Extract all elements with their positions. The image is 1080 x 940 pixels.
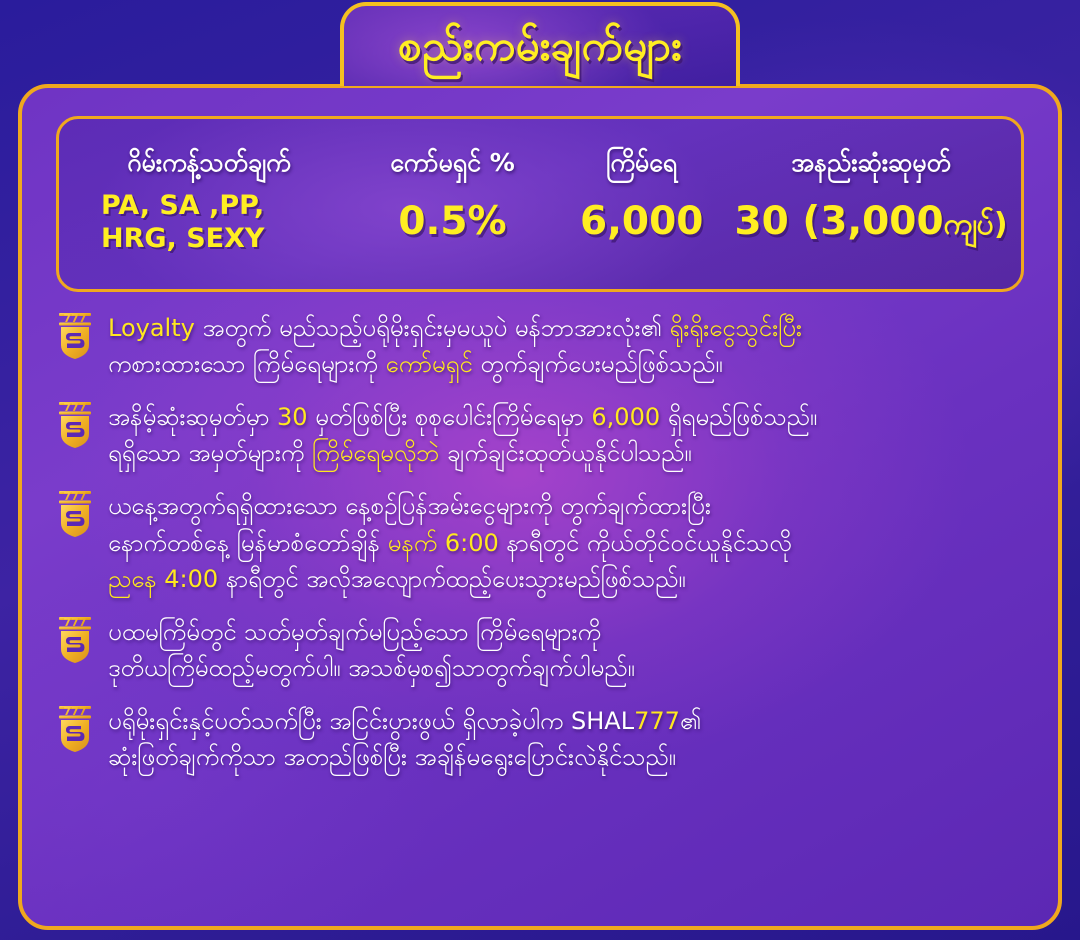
body-text: ရှိရမည်ဖြစ်သည်။	[668, 403, 817, 431]
list-item-line: နောက်တစ်နေ့ မြန်မာစံတော်ချိန် မနက် 6:00 …	[108, 527, 792, 560]
list-item-line: ကစားထားသော ကြိမ်ရေများကို ကော်မရှင် တွက်…	[108, 348, 802, 381]
body-text: ချက်ချင်းထုတ်ယူနိုင်ပါသည်။	[447, 439, 692, 467]
shield-777-icon: 777	[56, 490, 94, 538]
table-cell-min-points: 30 (3,000ကျပ်)	[729, 202, 1013, 243]
body-text: ကစားထားသော ကြိမ်ရေများကို	[108, 350, 386, 378]
table-value-row: PA, SA ,PP, HRG, SEXY 0.5% 6,000 30 (3,0…	[67, 190, 1013, 255]
list-item-text: ယနေ့အတွက်ရရှိထားသော နေ့စဉ်ပြန်အမ်းငွေမျာ…	[108, 488, 792, 595]
list-item-line: ဒုတိယကြိမ်ထည့်မတွက်ပါ။ အသစ်မှစ၍သာတွက်ချက…	[108, 652, 635, 685]
shield-777-icon: 777	[56, 312, 94, 360]
list-item: 777 အနိမ့်ဆုံးဆုမှတ်မှာ 30 မှတ်ဖြစ်ပြီး …	[56, 399, 1032, 470]
terms-table: ဂိမ်းကန့်သတ်ချက် ကော်မရှင် % ကြိမ်ရေ အနည…	[56, 116, 1024, 292]
body-text: ဆုံးဖြတ်ချက်ကိုသာ အတည်ဖြစ်ပြီး အချိန်မရွ…	[108, 743, 676, 771]
table-header-cell-min-points: အနည်းဆုံးဆုမှတ်	[729, 149, 1013, 177]
games-line-2: HRG, SEXY	[101, 223, 264, 255]
body-text: မှတ်ဖြစ်ပြီး စုစုပေါင်းကြိမ်ရေမှာ	[315, 403, 591, 431]
svg-text:777: 777	[64, 312, 87, 325]
body-text: ပထမကြိမ်တွင် သတ်မှတ်ချက်မပြည့်သော ကြိမ်ရ…	[108, 618, 601, 646]
list-item-text: Loyalty အတွက် မည်သည့်ပရိုမိုးရှင်းမှမယူပ…	[108, 310, 802, 381]
main-panel: ဂိမ်းကန့်သတ်ချက် ကော်မရှင် % ကြိမ်ရေ အနည…	[18, 84, 1062, 930]
highlight-text: 30	[277, 403, 315, 431]
table-header-cell-times: ကြိမ်ရေ	[554, 149, 729, 177]
list-item: 777 ပရိုမိုးရှင်းနှင့်ပတ်သက်ပြီး အငြင်းပ…	[56, 703, 1032, 774]
table-header-cell-game-limit: ဂိမ်းကန့်သတ်ချက်	[67, 149, 351, 177]
shield-777-icon: 777	[56, 616, 94, 664]
body-text: ယနေ့အတွက်ရရှိထားသော နေ့စဉ်ပြန်အမ်းငွေမျာ…	[108, 492, 711, 520]
title-banner: စည်းကမ်းချက်များ	[340, 2, 740, 86]
list-item-line: ပရိုမိုးရှင်းနှင့်ပတ်သက်ပြီး အငြင်းပွားဖ…	[108, 705, 701, 738]
highlight-text: ကော်မရှင်	[386, 350, 481, 378]
promo-page: စည်းကမ်းချက်များ ဂိမ်းကန့်သတ်ချက် ကော်မရ…	[0, 0, 1080, 940]
body-text: နာရီတွင် အလိုအလျောက်ထည့်ပေးသွားမည်ဖြစ်သည…	[226, 565, 686, 593]
list-item-text: အနိမ့်ဆုံးဆုမှတ်မှာ 30 မှတ်ဖြစ်ပြီး စုစု…	[108, 399, 817, 470]
highlight-text: မနက် 6:00	[388, 529, 507, 557]
list-item-line: အနိမ့်ဆုံးဆုမှတ်မှာ 30 မှတ်ဖြစ်ပြီး စုစု…	[108, 401, 817, 434]
table-header-row: ဂိမ်းကန့်သတ်ချက် ကော်မရှင် % ကြိမ်ရေ အနည…	[67, 149, 1013, 177]
svg-text:777: 777	[64, 401, 87, 414]
body-text: ပရိုမိုးရှင်းနှင့်ပတ်သက်ပြီး အငြင်းပွားဖ…	[108, 707, 634, 735]
highlight-text: ရိုးရိုးငွေသွင်းပြီး	[669, 314, 802, 342]
games-line-1: PA, SA ,PP,	[101, 190, 264, 222]
list-item-line: ဆုံးဖြတ်ချက်ကိုသာ အတည်ဖြစ်ပြီး အချိန်မရွ…	[108, 741, 701, 774]
body-text: အတွက် မည်သည့်ပရိုမိုးရှင်းမှမယူပဲ မန်ဘာအ…	[202, 314, 669, 342]
highlight-text: 6,000	[591, 403, 667, 431]
list-item-line: ရရှိသော အမှတ်များကို ကြိမ်ရေမလိုဘဲ ချက်ခ…	[108, 437, 817, 470]
list-item-text: ပထမကြိမ်တွင် သတ်မှတ်ချက်မပြည့်သော ကြိမ်ရ…	[108, 614, 635, 685]
body-text: နောက်တစ်နေ့ မြန်မာစံတော်ချိန်	[108, 529, 388, 557]
table-cell-games: PA, SA ,PP, HRG, SEXY	[67, 190, 351, 255]
min-points-number: 30 (3,000	[735, 199, 944, 244]
svg-text:777: 777	[64, 616, 87, 629]
body-text: တွက်ချက်ပေးမည်ဖြစ်သည်။	[480, 350, 722, 378]
highlight-text: ကြိမ်ရေမလိုဘဲ	[312, 439, 447, 467]
list-item-line: ညနေ 4:00 နာရီတွင် အလိုအလျောက်ထည့်ပေးသွား…	[108, 563, 792, 596]
list-item-line: ယနေ့အတွက်ရရှိထားသော နေ့စဉ်ပြန်အမ်းငွေမျာ…	[108, 490, 792, 523]
svg-text:777: 777	[64, 705, 87, 718]
table-cell-commission: 0.5%	[351, 202, 554, 243]
table-header-cell-commission: ကော်မရှင် %	[351, 149, 554, 177]
min-points-unit: ကျပ်)	[944, 207, 1008, 242]
highlight-text: Loyalty	[108, 314, 202, 342]
highlight-text: 777	[634, 707, 680, 735]
list-item: 777 ယနေ့အတွက်ရရှိထားသော နေ့စဉ်ပြန်အမ်းငွ…	[56, 488, 1032, 595]
highlight-text: ညနေ 4:00	[108, 565, 226, 593]
list-item: 777 ပထမကြိမ်တွင် သတ်မှတ်ချက်မပြည့်သော ကြ…	[56, 614, 1032, 685]
terms-list: 777 Loyalty အတွက် မည်သည့်ပရိုမိုးရှင်းမှ…	[42, 310, 1038, 774]
body-text: ဒုတိယကြိမ်ထည့်မတွက်ပါ။ အသစ်မှစ၍သာတွက်ချက…	[108, 654, 635, 682]
svg-text:777: 777	[64, 490, 87, 503]
list-item-text: ပရိုမိုးရှင်းနှင့်ပတ်သက်ပြီး အငြင်းပွားဖ…	[108, 703, 701, 774]
page-title: စည်းကမ်းချက်များ	[398, 25, 682, 67]
body-text: ၏	[680, 707, 701, 735]
list-item: 777 Loyalty အတွက် မည်သည့်ပရိုမိုးရှင်းမှ…	[56, 310, 1032, 381]
table-cell-times: 6,000	[554, 202, 729, 243]
body-text: နာရီတွင် ကိုယ်တိုင်ဝင်ယူနိုင်သလို	[506, 529, 791, 557]
shield-777-icon: 777	[56, 401, 94, 449]
body-text: အနိမ့်ဆုံးဆုမှတ်မှာ	[108, 403, 277, 431]
list-item-line: Loyalty အတွက် မည်သည့်ပရိုမိုးရှင်းမှမယူပ…	[108, 312, 802, 345]
body-text: ရရှိသော အမှတ်များကို	[108, 439, 312, 467]
list-item-line: ပထမကြိမ်တွင် သတ်မှတ်ချက်မပြည့်သော ကြိမ်ရ…	[108, 616, 635, 649]
shield-777-icon: 777	[56, 705, 94, 753]
